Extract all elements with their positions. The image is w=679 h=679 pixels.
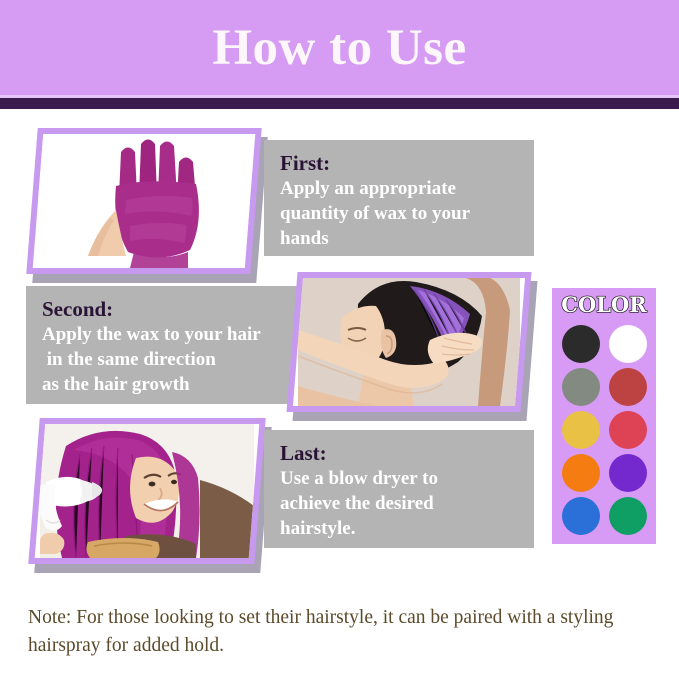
- photo-image-area: [35, 424, 260, 558]
- step-text-last-line-1: Use a blow dryer to: [280, 466, 534, 491]
- woman-applying-wax-icon: [298, 278, 520, 406]
- photo-frame-border: [286, 272, 531, 412]
- photo-woman-applying-wax-to-hair: [292, 272, 526, 412]
- photo-woman-blow-drying-purple-hair: [34, 418, 260, 564]
- woman-blow-drying-icon: [40, 424, 254, 558]
- footer-note: Note: For those looking to set their hai…: [28, 604, 644, 660]
- color-swatch-orange[interactable]: [562, 454, 600, 492]
- step-text-second-line-1: Apply the wax to your hair: [42, 322, 298, 347]
- step-label-second: Second:: [42, 296, 298, 322]
- photo-frame-border: [26, 128, 261, 274]
- color-swatch-violet[interactable]: [609, 454, 647, 492]
- photo-hand-covered-in-purple-wax: [32, 128, 256, 274]
- step-text-last-line-2: achieve the desired: [280, 491, 534, 516]
- hand-illustration: [38, 134, 250, 268]
- color-swatch-brick-red[interactable]: [609, 368, 647, 406]
- color-swatch-crimson-pink[interactable]: [609, 411, 647, 449]
- color-swatch-grid: [559, 322, 649, 537]
- color-swatch-green[interactable]: [609, 497, 647, 535]
- step-text-first-line-2: quantity of wax to your: [280, 201, 534, 226]
- color-swatch-gold-yellow[interactable]: [562, 411, 600, 449]
- blow-dryer-illustration: [40, 424, 254, 558]
- photo-frame-border: [28, 418, 265, 564]
- step-text-second-line-2: in the same direction: [42, 347, 298, 372]
- color-swatch-black[interactable]: [562, 325, 600, 363]
- photo-image-area: [293, 278, 525, 406]
- hand-wax-icon: [38, 134, 250, 268]
- step-text-last-line-3: hairstyle.: [280, 516, 534, 541]
- color-swatch-gray[interactable]: [562, 368, 600, 406]
- applying-wax-illustration: [298, 278, 520, 406]
- step-text-first-line-3: hands: [280, 226, 534, 251]
- page-title: How to Use: [0, 18, 679, 78]
- color-panel-title: COLOR: [552, 292, 656, 318]
- color-swatch-panel: COLOR: [552, 288, 656, 544]
- step-label-first: First:: [280, 150, 534, 176]
- color-swatch-blue[interactable]: [562, 497, 600, 535]
- color-swatch-white[interactable]: [609, 325, 647, 363]
- header-dark-bar: [0, 98, 679, 109]
- step-text-first-line-1: Apply an appropriate: [280, 176, 534, 201]
- photo-image-area: [33, 134, 256, 268]
- caption-step-second: Second: Apply the wax to your hair in th…: [26, 286, 298, 404]
- step-text-second-line-3: as the hair growth: [42, 372, 298, 397]
- caption-step-first: First: Apply an appropriate quantity of …: [264, 140, 534, 256]
- caption-step-last: Last: Use a blow dryer to achieve the de…: [264, 430, 534, 548]
- step-label-last: Last:: [280, 440, 534, 466]
